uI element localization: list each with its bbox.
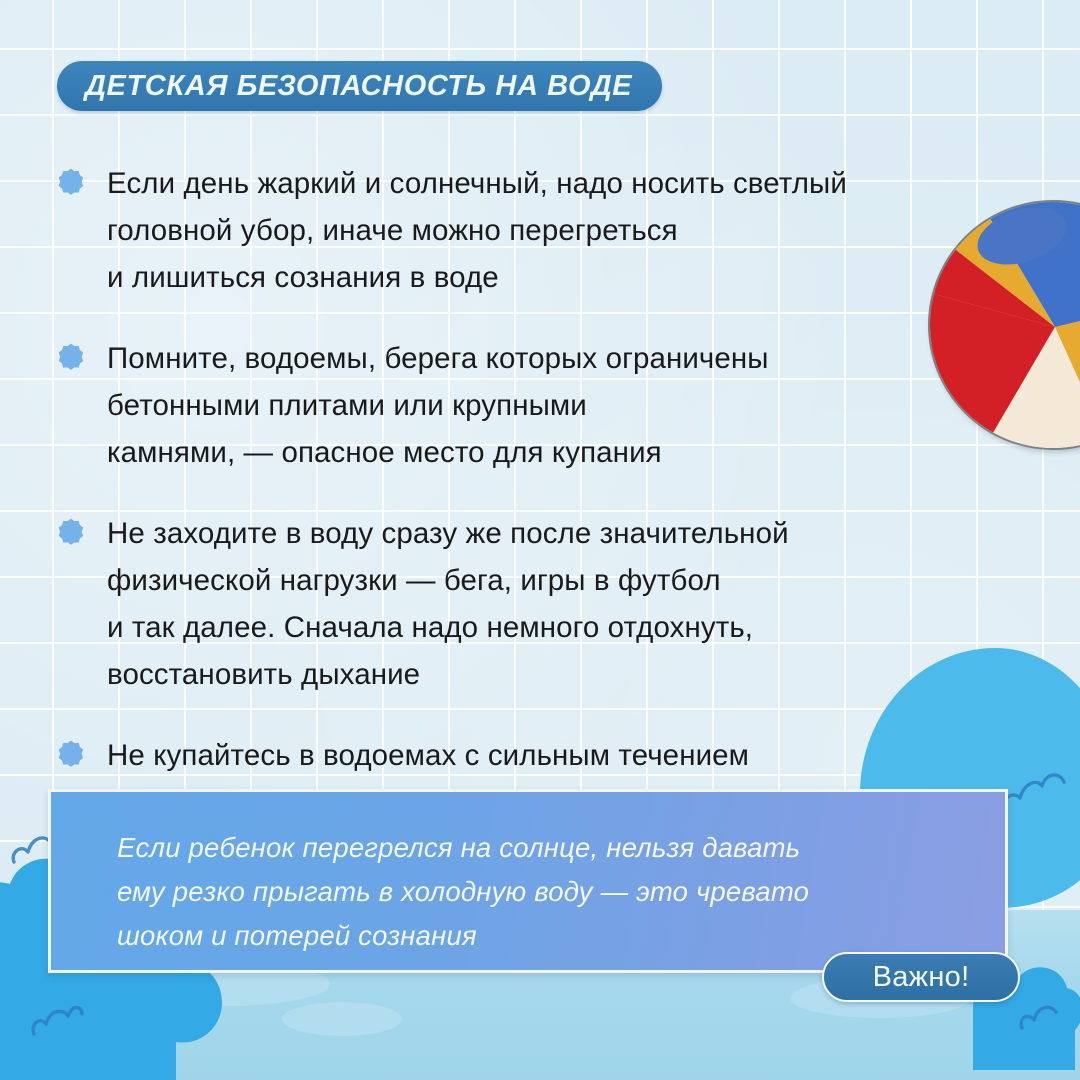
poster-canvas: ДЕТСКАЯ БЕЗОПАСНОСТЬ НА ВОДЕ Если день ж… xyxy=(0,0,1080,1080)
eight-point-star-icon xyxy=(57,517,85,545)
list-item-text: Если день жаркий и солнечный, надо носит… xyxy=(107,160,847,301)
bird-doodle-icon xyxy=(1018,994,1062,1034)
puddle-shape xyxy=(282,1002,402,1036)
eight-point-star-icon xyxy=(57,342,85,370)
list-item: Не заходите в воду сразу же после значит… xyxy=(57,510,957,698)
callout-text: Если ребенок перегрелся на солнце, нельз… xyxy=(117,826,965,958)
list-item: Помните, водоемы, берега которых огранич… xyxy=(57,335,957,476)
eight-point-star-icon xyxy=(57,739,85,767)
list-item: Не купайтесь в водоемах с сильным течени… xyxy=(57,732,957,779)
eight-point-star-icon xyxy=(57,167,85,195)
callout-box: Если ребенок перегрелся на солнце, нельз… xyxy=(48,789,1008,973)
status-badge-label: Важно! xyxy=(873,961,970,994)
list-item: Если день жаркий и солнечный, надо носит… xyxy=(57,160,957,301)
page-title: ДЕТСКАЯ БЕЗОПАСНОСТЬ НА ВОДЕ xyxy=(85,70,632,103)
status-badge: Важно! xyxy=(822,952,1020,1002)
tips-list: Если день жаркий и солнечный, надо носит… xyxy=(57,160,957,779)
list-item-text: Не купайтесь в водоемах с сильным течени… xyxy=(107,732,749,779)
list-item-text: Помните, водоемы, берега которых огранич… xyxy=(107,335,769,476)
list-item-text: Не заходите в воду сразу же после значит… xyxy=(107,510,789,698)
page-title-badge: ДЕТСКАЯ БЕЗОПАСНОСТЬ НА ВОДЕ xyxy=(57,61,662,111)
bird-doodle-icon xyxy=(998,760,1068,818)
bird-doodle-icon xyxy=(30,996,84,1040)
